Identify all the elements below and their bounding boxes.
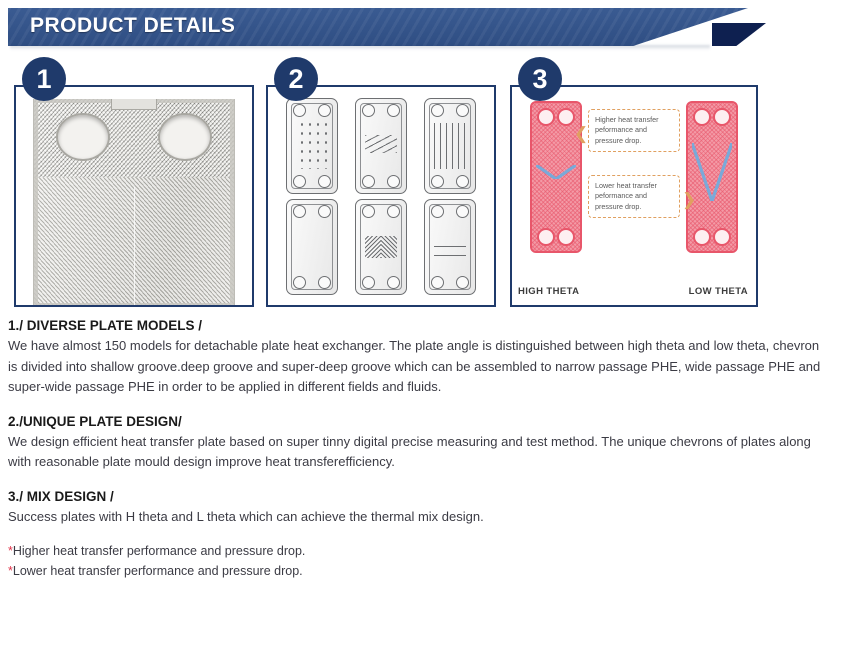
plate-hole: [362, 104, 375, 117]
plate-hole: [456, 175, 469, 188]
panel-plate-photo: [14, 85, 254, 307]
plate-vertical-groove-icon: [424, 98, 476, 194]
plate-hole: [362, 205, 375, 218]
plate-hole: [293, 104, 306, 117]
plate-icon-cell: [349, 198, 414, 295]
plate-hole: [318, 205, 331, 218]
callout-higher-heat-transfer: Higher heat transfer peformance and pres…: [588, 109, 680, 152]
note-higher-performance: *Higher heat transfer performance and pr…: [8, 541, 840, 561]
plate-top-tab: [111, 99, 157, 110]
plate-hole: [293, 205, 306, 218]
section-title-unique-plate-design: 2./UNIQUE PLATE DESIGN/: [8, 414, 840, 429]
shallow-chevron-marker: [536, 165, 576, 179]
label-high-theta: HIGH THETA: [518, 286, 579, 297]
plate-icon-cell: [280, 198, 345, 295]
theta-diagram: ❮ ❯ Higher heat transfer peformance and …: [512, 87, 756, 305]
plate-icon-cell: [417, 97, 482, 194]
plate-icon-cell: [349, 97, 414, 194]
note-text: Higher heat transfer performance and pre…: [13, 544, 306, 558]
section-title-diverse-plate-models: 1./ DIVERSE PLATE MODELS /: [8, 318, 840, 333]
plate-hole: [431, 276, 444, 289]
panel-badge-2: 2: [274, 57, 318, 101]
page-title: PRODUCT DETAILS: [30, 14, 235, 38]
section-body-diverse-plate-models: We have almost 150 models for detachable…: [8, 336, 826, 398]
arrow-right-icon: ❯: [682, 191, 696, 208]
plate-hole: [387, 175, 400, 188]
plate-icon-cell: [280, 97, 345, 194]
plate-hole: [431, 205, 444, 218]
theta-plate-hole: [693, 108, 711, 126]
plate-hole: [318, 104, 331, 117]
plate-icon-cell: [417, 198, 482, 295]
theta-plate-hole: [537, 108, 555, 126]
panel-badge-1: 1: [22, 57, 66, 101]
theta-plate-hole: [713, 108, 731, 126]
theta-plate-hole: [713, 228, 731, 246]
steep-chevron-marker: [692, 143, 732, 201]
steel-plate-photo: [33, 99, 235, 305]
theta-plate-hole: [557, 108, 575, 126]
page-header: PRODUCT DETAILS: [0, 0, 848, 57]
plate-pattern: [365, 135, 397, 153]
section-body-mix-design: Success plates with H theta and L theta …: [8, 507, 826, 528]
plate-hole: [456, 276, 469, 289]
plate-hole: [387, 276, 400, 289]
plate-model-icon-grid: [268, 87, 494, 305]
section-title-mix-design: 3./ MIX DESIGN /: [8, 489, 840, 504]
panel-row: 1: [0, 57, 848, 319]
plate-port-right: [158, 113, 212, 161]
label-low-theta: LOW THETA: [689, 286, 748, 297]
plate-hole: [387, 104, 400, 117]
plate-center-seam: [134, 187, 135, 305]
header-ribbon-shadow: [10, 45, 710, 50]
plate-hole: [318, 276, 331, 289]
plate-hole: [293, 276, 306, 289]
section-body-unique-plate-design: We design efficient heat transfer plate …: [8, 432, 826, 473]
panel-1-content: [16, 87, 252, 305]
callout-lower-heat-transfer: Lower heat transfer peformance and press…: [588, 175, 680, 218]
plate-pattern: [434, 123, 466, 169]
plate-pattern: [296, 123, 328, 169]
panel-theta-comparison: ❮ ❯ Higher heat transfer peformance and …: [510, 85, 758, 307]
theta-plate-hole: [557, 228, 575, 246]
plate-diagonal-groove-icon: [355, 98, 407, 194]
plate-hole: [362, 175, 375, 188]
plate-port-left: [56, 113, 110, 161]
plate-hole: [456, 205, 469, 218]
note-lower-performance: *Lower heat transfer performance and pre…: [8, 561, 840, 581]
theta-plate-hole: [537, 228, 555, 246]
arrow-left-icon: ❮: [574, 125, 588, 142]
plate-dense-herringbone-icon: [355, 199, 407, 295]
plate-hole: [431, 175, 444, 188]
plate-pattern: [365, 236, 397, 258]
plate-hole: [456, 104, 469, 117]
plate-dimple-pattern-icon: [286, 98, 338, 194]
low-theta-plate: [686, 101, 738, 253]
header-ribbon-tail: [712, 23, 766, 46]
plate-hole: [362, 276, 375, 289]
description-content: 1./ DIVERSE PLATE MODELS / We have almos…: [8, 318, 840, 581]
plate-hole: [318, 175, 331, 188]
panel-badge-3: 3: [518, 57, 562, 101]
panel-plate-models: [266, 85, 496, 307]
plate-hole: [293, 175, 306, 188]
theta-plate-hole: [693, 228, 711, 246]
plate-pattern: [434, 238, 466, 256]
plate-horizontal-bars-icon: [424, 199, 476, 295]
plate-chevron-wave-icon: [286, 199, 338, 295]
plate-hole: [431, 104, 444, 117]
note-text: Lower heat transfer performance and pres…: [13, 564, 303, 578]
plate-hole: [387, 205, 400, 218]
